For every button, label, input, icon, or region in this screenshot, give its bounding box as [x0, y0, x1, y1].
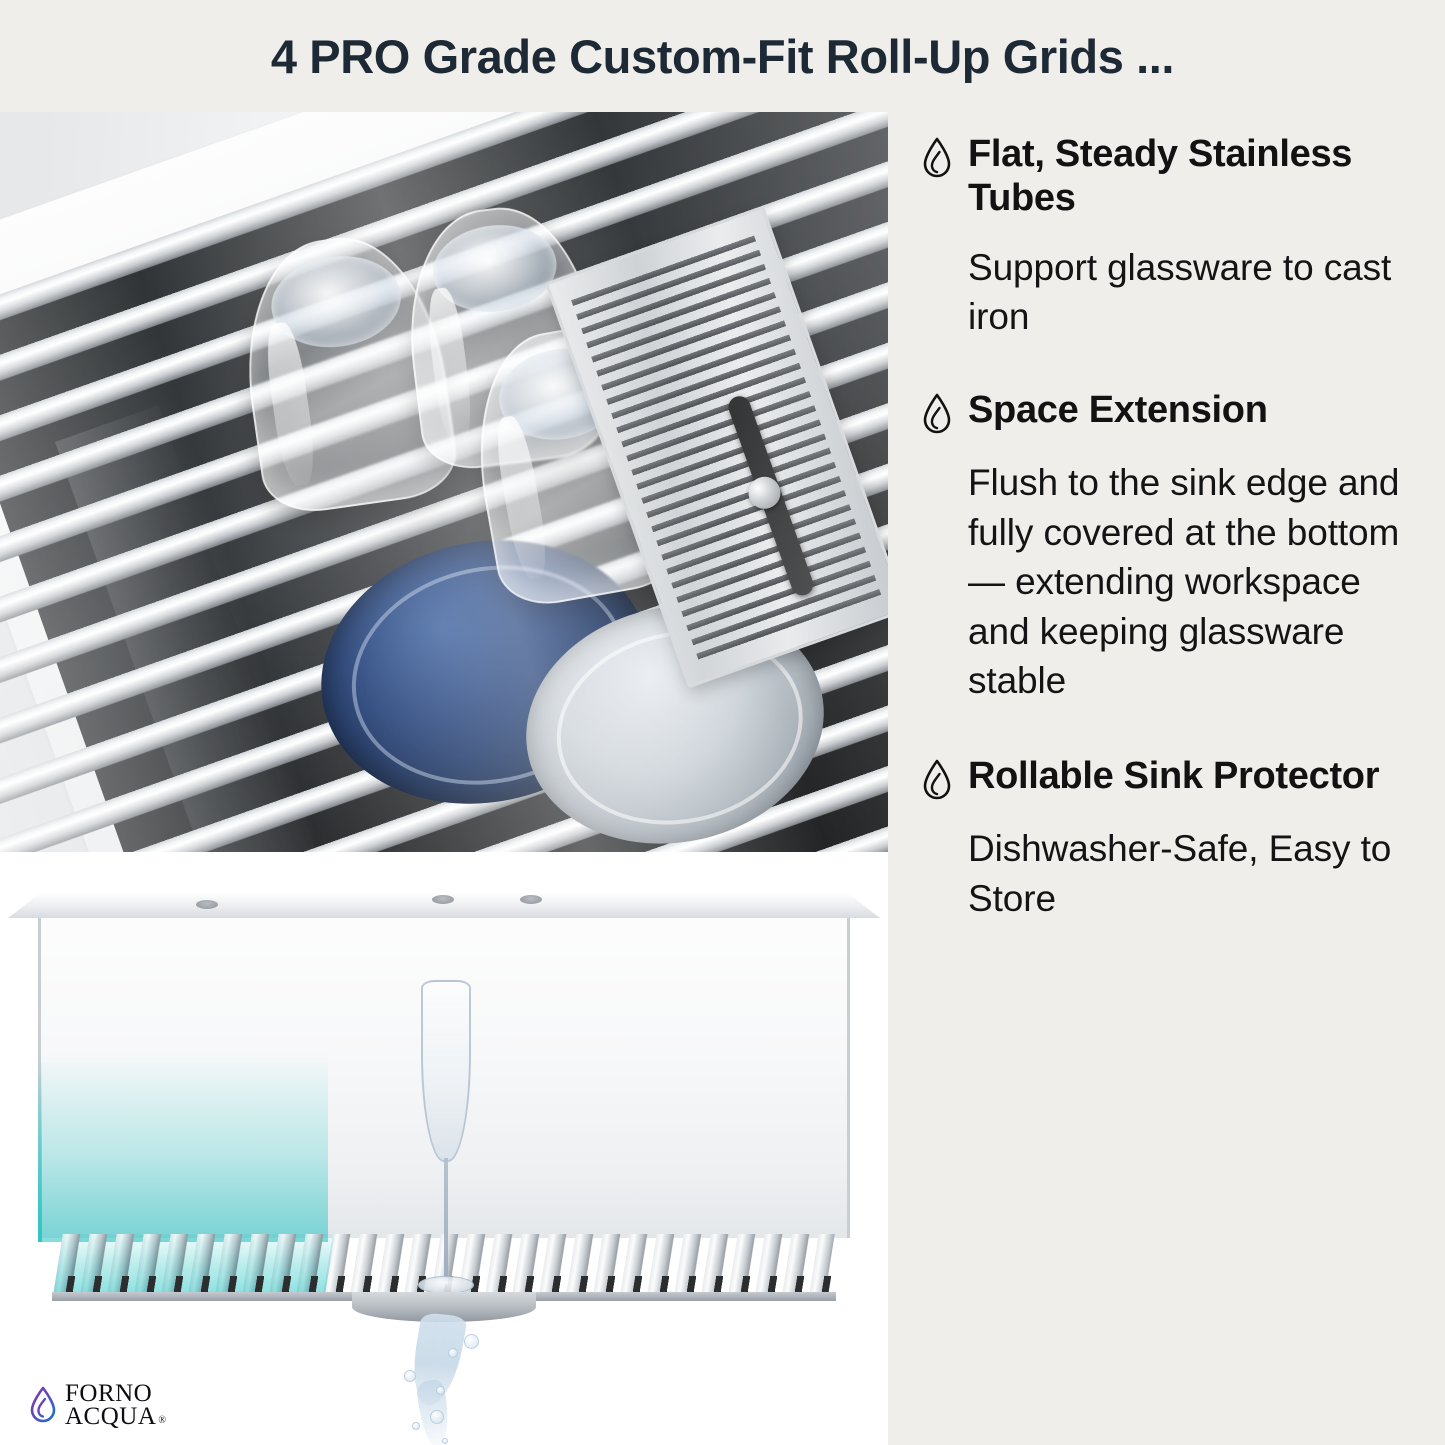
water-drop-icon	[920, 388, 954, 436]
feature-body: Dishwasher-Safe, Easy to Store	[968, 824, 1401, 923]
top-product-photo	[0, 112, 888, 852]
water-droplet	[442, 1438, 448, 1444]
feature-heading: Space Extension	[968, 388, 1268, 432]
logo-line-2: ACQUA ®	[65, 1405, 167, 1428]
feature-heading: Flat, Steady Stainless Tubes	[968, 132, 1401, 221]
logo-wordmark: FORNO ACQUA ®	[65, 1382, 167, 1428]
media-column	[0, 112, 888, 1445]
water-droplet	[464, 1334, 479, 1349]
rim-hole	[432, 895, 454, 904]
water-drop-icon	[920, 132, 954, 180]
page-title: 4 PRO Grade Custom-Fit Roll-Up Grids ...	[271, 29, 1174, 84]
champagne-flute	[415, 980, 477, 1298]
feature-body: Flush to the sink edge and fully covered…	[968, 458, 1401, 706]
feature-body: Support glassware to cast iron	[968, 243, 1401, 342]
water-droplet	[430, 1410, 444, 1424]
bottom-product-photo	[0, 852, 888, 1445]
logo-water-drop-icon	[28, 1386, 58, 1424]
water-droplet	[412, 1422, 420, 1430]
features-column: Flat, Steady Stainless Tubes Support gla…	[888, 112, 1445, 1445]
feature-item-flat-steady-stainless-tubes: Flat, Steady Stainless Tubes	[920, 132, 1401, 221]
feature-heading: Rollable Sink Protector	[968, 754, 1379, 798]
logo-line-2-text: ACQUA	[65, 1405, 156, 1428]
logo-line-1: FORNO	[65, 1382, 167, 1405]
water-splash	[386, 1314, 506, 1445]
flute-bowl	[421, 980, 471, 1162]
rim-hole	[196, 900, 218, 909]
flute-stem	[444, 1158, 448, 1284]
infographic-page: 4 PRO Grade Custom-Fit Roll-Up Grids ...	[0, 0, 1445, 1445]
feature-item-rollable-sink-protector: Rollable Sink Protector	[920, 754, 1401, 802]
water-drop-icon	[920, 754, 954, 802]
feature-item-space-extension: Space Extension	[920, 388, 1401, 436]
water-droplet	[436, 1386, 445, 1395]
sink-teal-edge	[38, 1060, 42, 1242]
brand-logo: FORNO ACQUA ®	[28, 1382, 167, 1428]
title-bar: 4 PRO Grade Custom-Fit Roll-Up Grids ...	[0, 0, 1445, 112]
registered-mark: ®	[158, 1416, 166, 1425]
water-droplet	[404, 1370, 416, 1382]
water-droplet	[448, 1348, 458, 1358]
rim-hole	[520, 895, 542, 904]
